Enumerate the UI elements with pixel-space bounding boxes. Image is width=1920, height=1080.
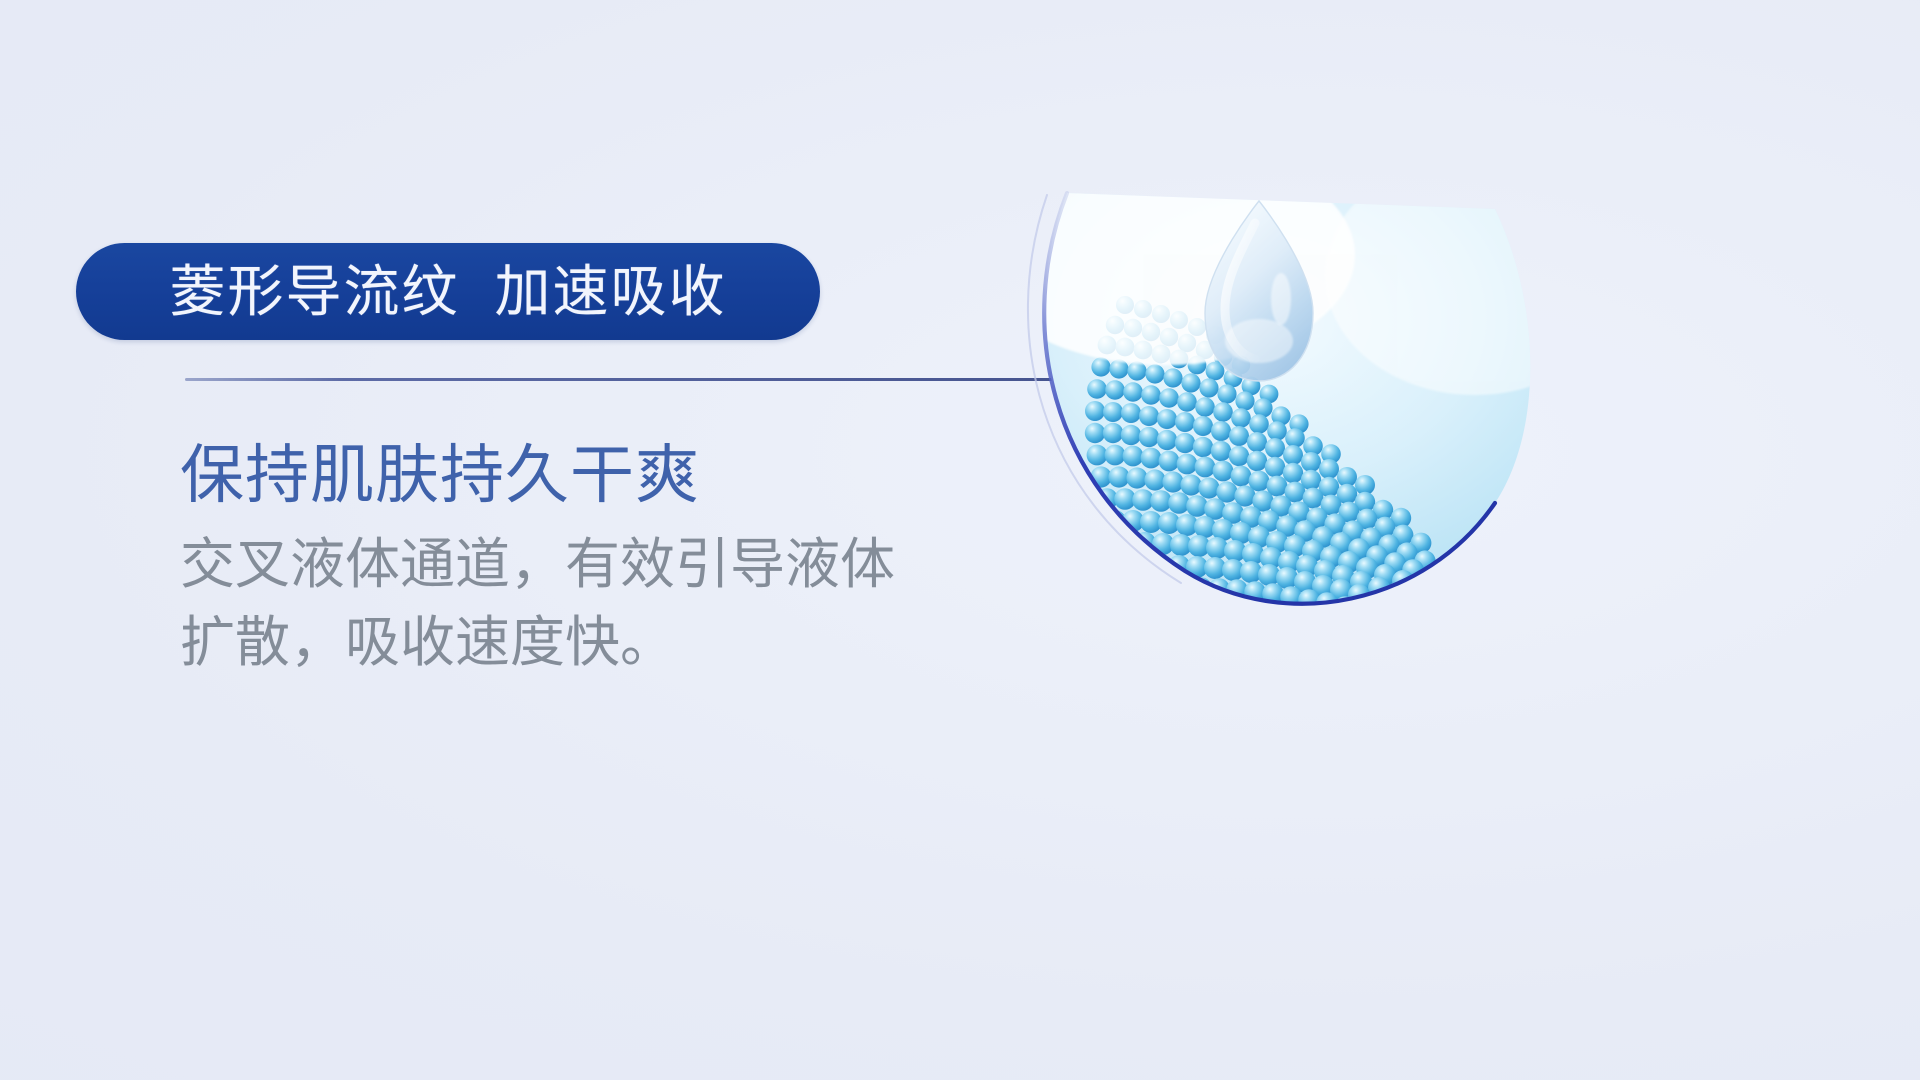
product-illustration xyxy=(955,185,1555,635)
promo-banner: 菱形导流纹 加速吸收 保持肌肤持久干爽 交叉液体通道，有效引导液体 扩散，吸收速… xyxy=(0,0,1920,1080)
body-line-2: 扩散，吸收速度快。 xyxy=(180,603,980,681)
page-title: 保持肌肤持久干爽 xyxy=(180,440,700,512)
body-paragraph: 交叉液体通道，有效引导液体 扩散，吸收速度快。 xyxy=(180,525,980,681)
feature-badge-label: 菱形导流纹 加速吸收 xyxy=(169,264,726,320)
left-content-column: 菱形导流纹 加速吸收 保持肌肤持久干爽 交叉液体通道，有效引导液体 扩散，吸收速… xyxy=(0,0,1000,1080)
body-line-1: 交叉液体通道，有效引导液体 xyxy=(180,525,980,603)
callout-line xyxy=(185,378,1065,381)
feature-badge: 菱形导流纹 加速吸收 xyxy=(76,243,820,340)
